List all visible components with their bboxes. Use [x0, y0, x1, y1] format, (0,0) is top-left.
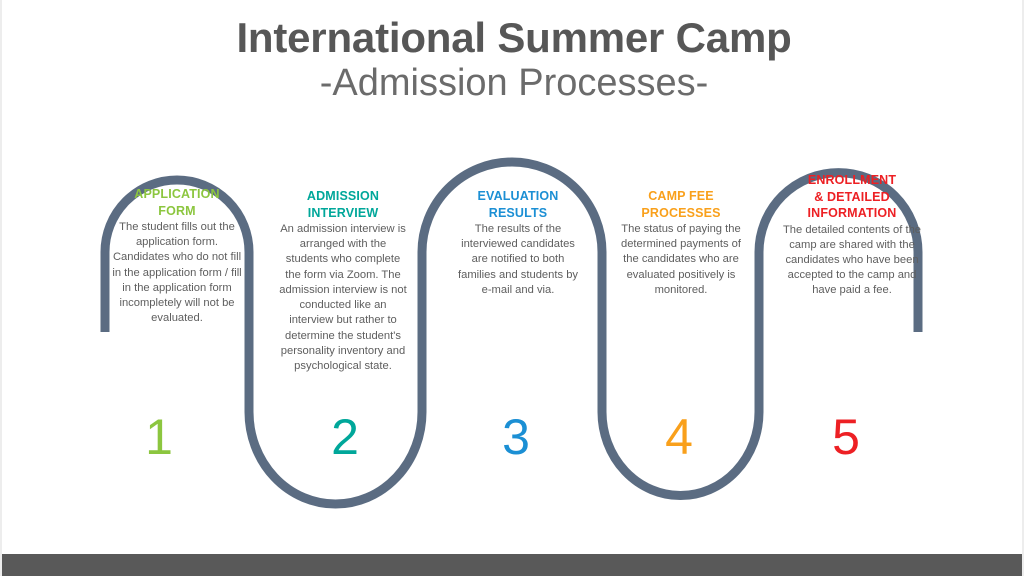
step-5-heading-line-3: INFORMATION	[808, 206, 897, 220]
step-card-4[interactable]: CAMP FEE PROCESSES The status of paying …	[616, 188, 746, 298]
step-5-heading-line-1: ENROLLMENT	[808, 173, 896, 187]
title-main-line: International Summer Camp	[2, 16, 1024, 60]
step-4-heading: CAMP FEE PROCESSES	[616, 188, 746, 221]
step-2-number: 2	[280, 412, 410, 462]
step-card-1[interactable]: APPLICATION FORM The student fills out t…	[112, 186, 242, 327]
step-4-heading-line-1: CAMP FEE	[648, 189, 714, 203]
step-1-body: The student fills out the application fo…	[112, 220, 242, 327]
step-3-body: The results of the interviewed candidate…	[453, 222, 583, 298]
step-3-heading-line-2: RESULTS	[489, 206, 547, 220]
step-card-3[interactable]: EVALUATION RESULTS The results of the in…	[453, 188, 583, 298]
step-3-number: 3	[451, 412, 581, 462]
title-subtitle-line: -Admission Processes-	[2, 64, 1024, 104]
step-3-heading: EVALUATION RESULTS	[453, 188, 583, 221]
slide-canvas: International Summer Camp -Admission Pro…	[0, 0, 1024, 576]
step-5-heading: ENROLLMENT & DETAILED INFORMATION	[780, 172, 924, 222]
step-5-heading-line-2: & DETAILED	[814, 190, 890, 204]
footer-bar	[2, 554, 1024, 576]
step-1-heading: APPLICATION FORM	[112, 186, 242, 219]
step-2-heading-line-1: ADMISSION	[307, 189, 379, 203]
page-title: International Summer Camp -Admission Pro…	[2, 16, 1024, 103]
step-2-heading-line-2: INTERVIEW	[308, 206, 379, 220]
step-2-body: An admission interview is arranged with …	[278, 222, 408, 374]
step-3-heading-line-1: EVALUATION	[478, 189, 559, 203]
step-1-heading-line-2: FORM	[158, 204, 195, 218]
step-4-number: 4	[614, 412, 744, 462]
step-2-heading: ADMISSION INTERVIEW	[278, 188, 408, 221]
step-5-number: 5	[781, 412, 911, 462]
step-1-number: 1	[94, 412, 224, 462]
step-card-2[interactable]: ADMISSION INTERVIEW An admission intervi…	[278, 188, 408, 374]
step-4-heading-line-2: PROCESSES	[641, 206, 720, 220]
step-5-body: The detailed contents of the camp are sh…	[780, 223, 924, 299]
step-1-heading-line-1: APPLICATION	[134, 187, 219, 201]
step-4-body: The status of paying the determined paym…	[616, 222, 746, 298]
step-card-5[interactable]: ENROLLMENT & DETAILED INFORMATION The de…	[780, 172, 924, 299]
